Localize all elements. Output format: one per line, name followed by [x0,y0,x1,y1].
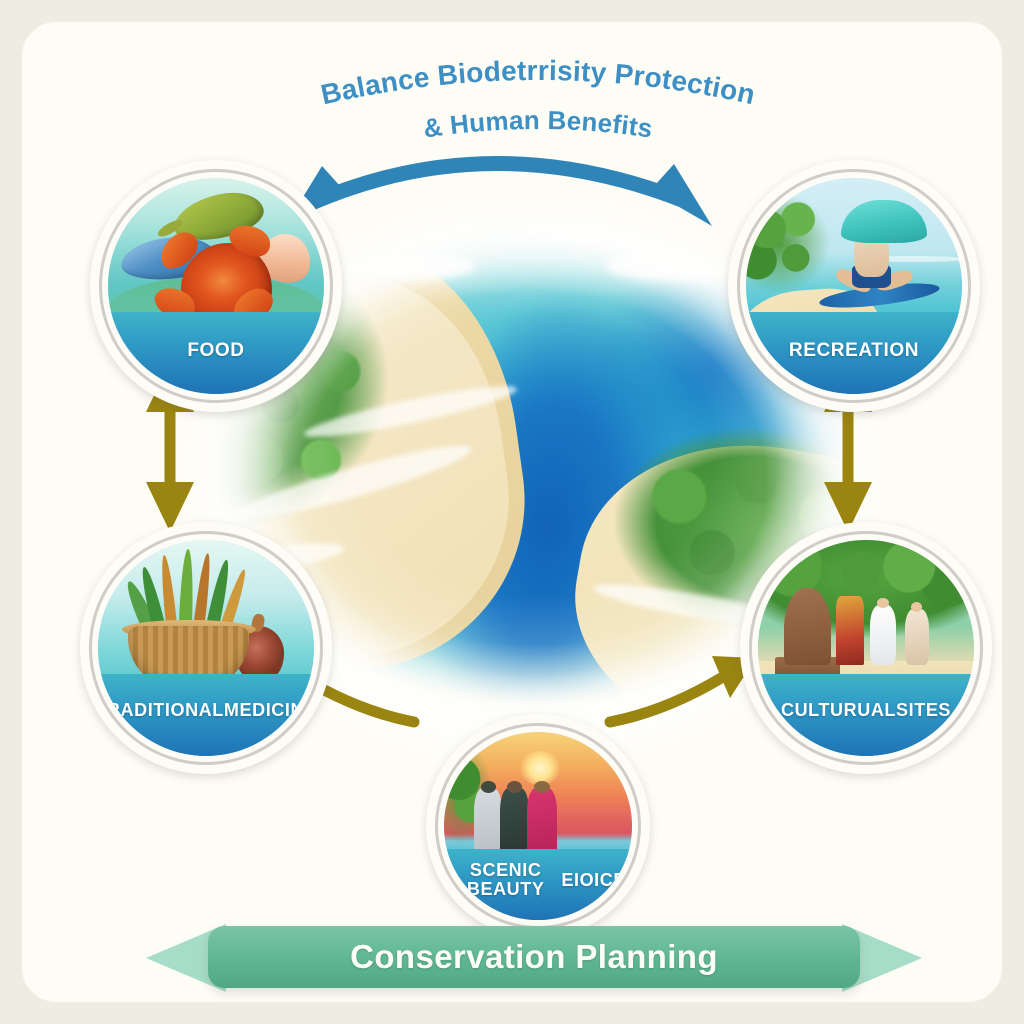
infographic-panel: Balance Biodetrrisity Protection & Human… [22,22,1002,1002]
node-scenic-beauty[interactable]: SCENIC BEAUTY EIOICE [426,714,650,938]
node-artwork-food: FOOD [108,178,324,394]
decorated-shrine [836,596,864,665]
label-line-2: SITES [896,701,951,720]
title-line-1-text: Balance Biodetrrisity Protection [318,55,758,110]
title-line-2-text: & Human Benefits [421,105,654,144]
node-artwork-cultural-sites: CULTURUAL SITES [758,540,974,756]
node-ring: FOOD [99,169,333,403]
node-label-recreation: RECREATION [746,312,962,394]
node-label-cultural-sites: CULTURUAL SITES [758,674,974,756]
infographic-frame: Balance Biodetrrisity Protection & Human… [0,0,1024,1024]
cloud [331,252,476,281]
node-ring: TRADITIONAL MEDICINE [89,531,323,765]
tourist-head [507,781,522,793]
node-traditional-medicine[interactable]: TRADITIONAL MEDICINE [80,522,332,774]
label-line-2: MEDICINE [224,701,314,720]
node-label-scenic-beauty: SCENIC BEAUTY EIOICE [444,849,632,920]
node-ring: RECREATION [737,169,971,403]
conservation-planning-banner[interactable]: Conservation Planning [142,920,926,996]
label-line-1: CULTURUAL [781,701,896,720]
label-line-1: SCENIC BEAUTY [450,861,561,900]
title-line-1: Balance Biodetrrisity Protection [318,55,758,110]
node-label-food: FOOD [108,312,324,394]
worshipper [905,609,929,665]
stone-statue [784,588,832,666]
node-cultural-sites[interactable]: CULTURUAL SITES [740,522,992,774]
node-recreation[interactable]: RECREATION [728,160,980,412]
sun [519,751,560,785]
title-line-2: & Human Benefits [421,105,654,144]
worshipper [870,605,896,665]
node-artwork-scenic-beauty: SCENIC BEAUTY EIOICE [444,732,632,920]
tourist-head [481,781,496,793]
node-artwork-recreation: RECREATION [746,178,962,394]
node-ring: SCENIC BEAUTY EIOICE [435,723,641,929]
page-title: Balance Biodetrrisity Protection & Human… [258,50,818,154]
node-label-traditional-medicine: TRADITIONAL MEDICINE [98,674,314,756]
label-line-1: TRADITIONAL [98,701,224,720]
node-ring: CULTURUAL SITES [749,531,983,765]
worshipper-head [877,598,889,609]
label-line-2: EIOICE [561,871,626,890]
node-food[interactable]: FOOD [90,160,342,412]
tourist-head [534,781,550,793]
worshipper-head [911,602,922,612]
node-artwork-traditional-medicine: TRADITIONAL MEDICINE [98,540,314,756]
banner-label: Conservation Planning [350,938,718,976]
banner-body: Conservation Planning [208,926,860,988]
